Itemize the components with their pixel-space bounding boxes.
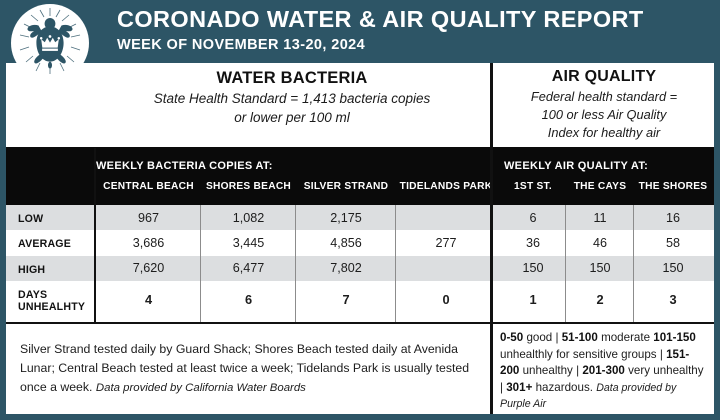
aqi-label-good: good — [526, 331, 552, 344]
row-label-low: LOW — [18, 213, 43, 226]
report-header: CORONADO WATER & AIR QUALITY REPORT WEEK… — [0, 0, 720, 63]
table-bottom-rule — [6, 322, 714, 324]
air-standard-line-1: Federal health standard = — [496, 88, 712, 105]
aqi-range-51-100: 51-100 — [562, 331, 598, 344]
column-header-tidelands-park: TIDELANDS PARK — [396, 181, 496, 192]
table-header-band — [6, 148, 714, 205]
column-rule-1st-st — [565, 205, 566, 322]
aqi-label-moderate: moderate — [601, 331, 650, 344]
cell-days-unhealthy-tidelands-park: 0 — [396, 292, 496, 307]
cell-high-shores-beach: 6,477 — [201, 261, 296, 275]
water-air-quality-report: CORONADO WATER & AIR QUALITY REPORT WEEK… — [0, 0, 720, 420]
water-section-title: WATER BACTERIA — [96, 68, 488, 89]
cell-days-unhealthy-central-beach: 4 — [96, 292, 201, 307]
water-section-caption: WATER BACTERIA State Health Standard = 1… — [96, 68, 488, 127]
aqi-range-201-300: 201-300 — [582, 364, 625, 377]
section-divider-top — [490, 63, 493, 323]
column-rule-silver — [395, 205, 396, 322]
cell-high-the-cays: 150 — [566, 261, 634, 275]
aqi-label-unhealthy: unhealthy — [523, 364, 573, 377]
column-header-shores-beach: SHORES BEACH — [201, 181, 296, 192]
air-group-header: WEEKLY AIR QUALITY AT: — [504, 160, 648, 172]
cell-average-silver-strand: 4,856 — [296, 236, 396, 250]
cell-average-tidelands-park: 277 — [396, 236, 496, 250]
aqi-range-101-150: 101-150 — [653, 331, 696, 344]
column-rule-the-cays — [633, 205, 634, 322]
data-table: WEEKLY BACTERIA COPIES AT: WEEKLY AIR QU… — [6, 148, 714, 323]
cell-low-the-cays: 11 — [566, 211, 634, 225]
row-label-average: AVERAGE — [18, 238, 71, 251]
row-label-days-unhealthy: DAYS — [18, 289, 47, 302]
water-footnote-source: Data provided by California Water Boards — [96, 382, 306, 394]
cell-low-shores-beach: 1,082 — [201, 211, 296, 225]
water-standard-line-1: State Health Standard = 1,413 bacteria c… — [96, 90, 488, 108]
cell-average-central-beach: 3,686 — [96, 236, 201, 250]
page-title: CORONADO WATER & AIR QUALITY REPORT — [117, 5, 709, 33]
table-row: HIGH 7,620 6,477 7,802 150 150 150 — [6, 256, 714, 281]
cell-days-unhealthy-1st-st: 1 — [500, 292, 566, 307]
air-section-caption: AIR QUALITY Federal health standard = 10… — [496, 66, 712, 141]
cell-days-unhealthy-the-cays: 2 — [566, 292, 634, 307]
frame-right-border — [714, 0, 720, 420]
cell-average-1st-st: 36 — [500, 236, 566, 250]
aqi-label-sensitive: unhealthly for sensitive groups — [500, 348, 657, 361]
cell-high-silver-strand: 7,802 — [296, 261, 396, 275]
air-section-title: AIR QUALITY — [496, 66, 712, 87]
column-rule-labels — [94, 148, 96, 322]
column-header-central-beach: CENTRAL BEACH — [96, 181, 201, 192]
cell-high-central-beach: 7,620 — [96, 261, 201, 275]
aqi-label-hazardous: hazardous. — [536, 381, 593, 394]
aqi-range-0-50: 0-50 — [500, 331, 523, 344]
column-header-the-shores: THE SHORES — [634, 181, 712, 192]
page-subtitle: WEEK OF NOVEMBER 13-20, 2024 — [117, 35, 709, 55]
frame-bottom-border — [0, 414, 720, 420]
water-group-header: WEEKLY BACTERIA COPIES AT: — [96, 160, 273, 172]
table-row: DAYS UNHEALHTY 4 6 7 0 1 2 3 — [6, 281, 714, 322]
cell-low-central-beach: 967 — [96, 211, 201, 225]
frame-left-border — [0, 0, 6, 420]
cell-high-the-shores: 150 — [634, 261, 712, 275]
cell-low-1st-st: 6 — [500, 211, 566, 225]
header-title-block: CORONADO WATER & AIR QUALITY REPORT WEEK… — [117, 5, 709, 55]
air-quality-scale-legend: 0-50 good | 51-100 moderate 101-150 unhe… — [500, 330, 708, 413]
cell-low-silver-strand: 2,175 — [296, 211, 396, 225]
column-header-silver-strand: SILVER STRAND — [296, 181, 396, 192]
cell-days-unhealthy-shores-beach: 6 — [201, 292, 296, 307]
cell-days-unhealthy-silver-strand: 7 — [296, 292, 396, 307]
water-footnote: Silver Strand tested daily by Guard Shac… — [20, 340, 475, 398]
turtle-crown-seal-icon — [11, 4, 89, 82]
section-divider-bottom — [490, 324, 493, 414]
cell-average-the-cays: 46 — [566, 236, 634, 250]
cell-low-the-shores: 16 — [634, 211, 712, 225]
column-rule-shores — [295, 205, 296, 322]
column-rule-central — [200, 205, 201, 322]
cell-days-unhealthy-the-shores: 3 — [634, 292, 712, 307]
air-standard-line-3: Index for healthy air — [496, 124, 712, 141]
column-header-1st-st: 1ST ST. — [500, 181, 566, 192]
air-standard-line-2: 100 or less Air Quality — [496, 106, 712, 123]
column-header-the-cays: THE CAYS — [566, 181, 634, 192]
row-label-days-unhealthy-line2: UNHEALHTY — [18, 301, 85, 314]
water-standard-line-2: or lower per 100 ml — [96, 109, 488, 127]
aqi-range-301-plus: 301+ — [506, 381, 532, 394]
aqi-label-very-unhealthy: very unhealthy — [628, 364, 703, 377]
row-label-high: HIGH — [18, 264, 45, 277]
table-row: AVERAGE 3,686 3,445 4,856 277 36 46 58 — [6, 230, 714, 256]
table-row: LOW 967 1,082 2,175 6 11 16 — [6, 205, 714, 230]
cell-high-1st-st: 150 — [500, 261, 566, 275]
cell-average-shores-beach: 3,445 — [201, 236, 296, 250]
cell-average-the-shores: 58 — [634, 236, 712, 250]
